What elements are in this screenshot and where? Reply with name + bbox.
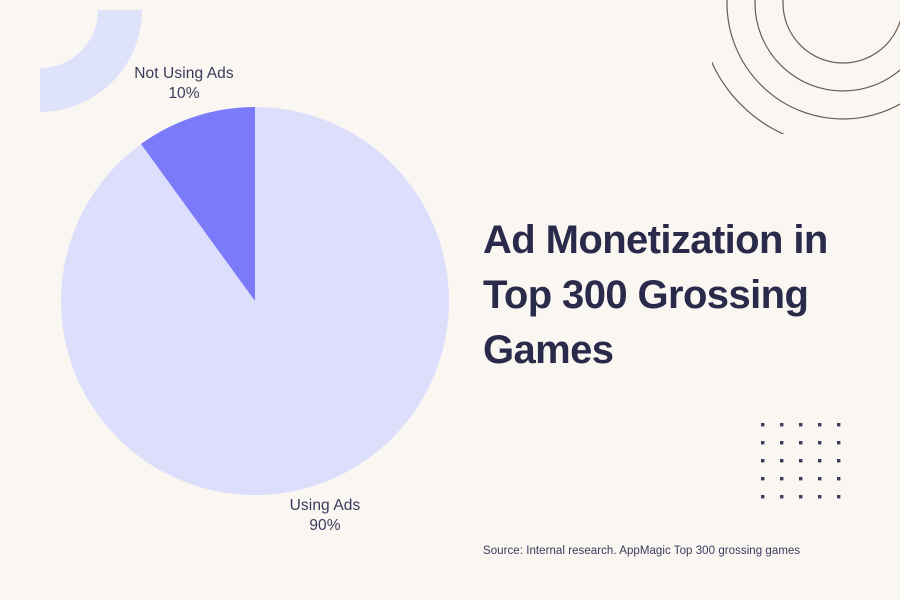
infographic-canvas: Not Using Ads 10% Using Ads 90% Ad Monet… <box>0 0 900 600</box>
concentric-circles-icon <box>712 0 900 134</box>
dot-grid-icon <box>757 420 847 504</box>
pie-label-using-ads-value: 90% <box>225 516 425 536</box>
pie-label-not-using-ads-value: 10% <box>84 84 284 104</box>
pie-slice-using-ads[interactable] <box>61 107 449 495</box>
page-title: Ad Monetization in Top 300 Grossing Game… <box>483 213 855 378</box>
pie-chart <box>61 107 449 495</box>
pie-label-not-using-ads-name: Not Using Ads <box>84 64 284 84</box>
pie-label-not-using-ads: Not Using Ads 10% <box>84 64 284 104</box>
pie-label-using-ads: Using Ads 90% <box>225 496 425 536</box>
source-note: Source: Internal research. AppMagic Top … <box>483 543 883 559</box>
pie-label-using-ads-name: Using Ads <box>225 496 425 516</box>
